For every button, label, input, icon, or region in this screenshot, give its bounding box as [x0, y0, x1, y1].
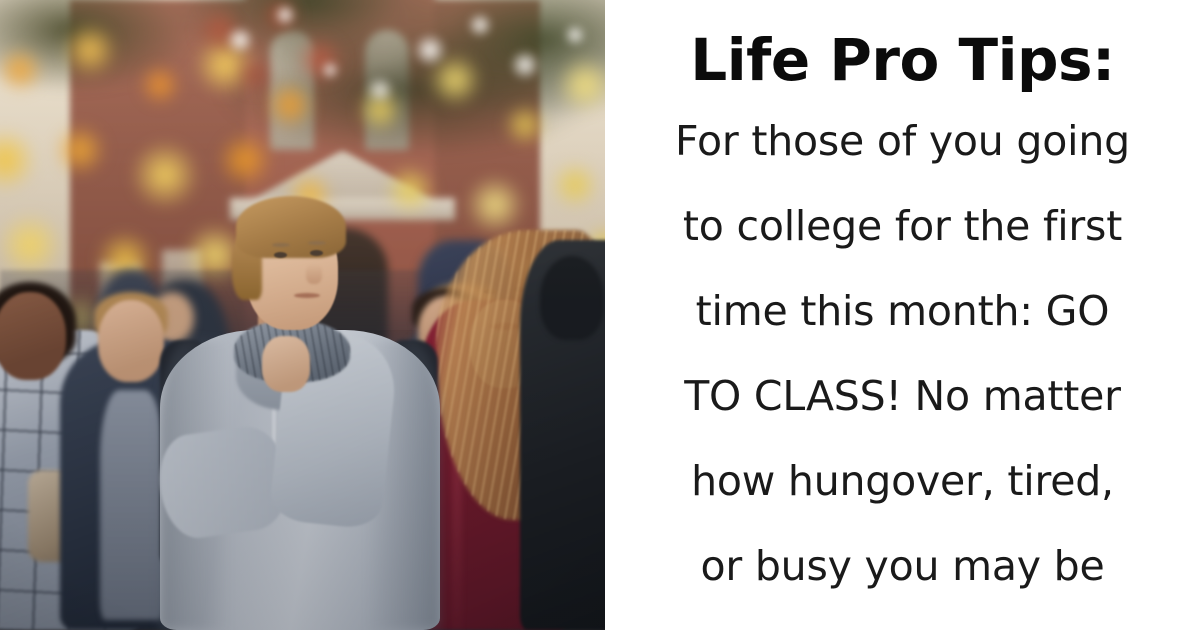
student-eyebrow	[272, 243, 290, 247]
body-line-3: time this month: GO	[619, 269, 1186, 354]
campus-photo	[0, 0, 605, 630]
student-hair	[236, 196, 346, 258]
student-eye	[274, 252, 287, 258]
body-line-2: to college for the first	[619, 184, 1186, 269]
text-panel: Life Pro Tips: For those of you going to…	[605, 0, 1200, 630]
body-line-4: TO CLASS! No matter	[619, 354, 1186, 439]
foreground-student	[150, 210, 450, 630]
sky-bokeh-highlights	[180, 0, 605, 200]
body-line-6: or busy you may be	[619, 524, 1186, 609]
body-line-1: For those of you going	[619, 99, 1186, 184]
headline: Life Pro Tips:	[605, 0, 1200, 99]
woman-plaid-face	[0, 292, 66, 380]
body-copy: For those of you going to college for th…	[605, 99, 1200, 609]
person-dark-jacket-head	[540, 256, 604, 340]
photo-stage	[0, 0, 605, 630]
student-eyebrow	[308, 241, 326, 245]
lifeprotips-card: Life Pro Tips: For those of you going to…	[0, 0, 1200, 630]
student-mouth	[294, 293, 320, 298]
student-eye	[310, 250, 323, 256]
student-hand-on-chin	[262, 336, 310, 392]
body-line-5: how hungover, tired,	[619, 439, 1186, 524]
student-nose	[306, 264, 322, 284]
